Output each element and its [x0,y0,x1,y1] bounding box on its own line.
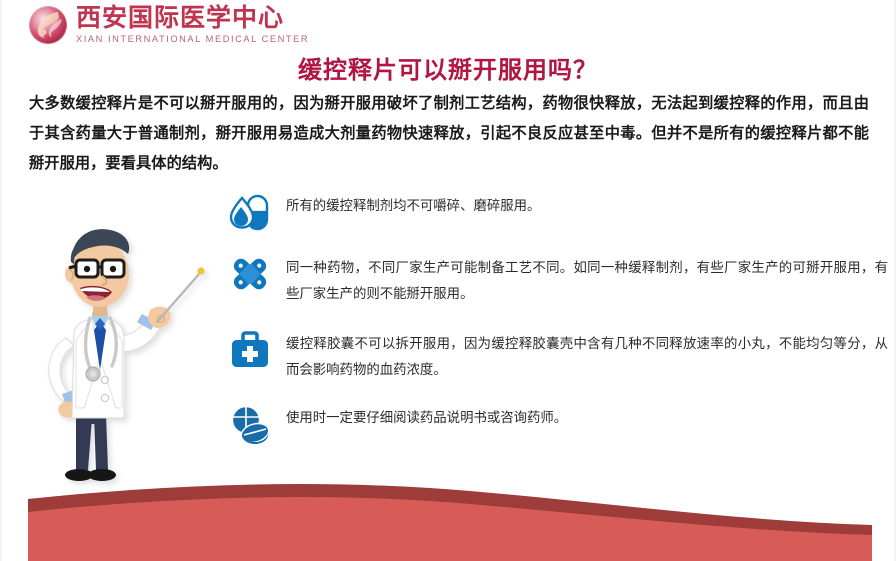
cartoon-doctor-illustration [14,218,214,493]
list-item-label: 所有的缓控释制剂均不可嚼碎、磨碎服用。 [286,190,888,220]
list-item-label: 同一种药物，不同厂家生产可能制备工艺不同。如同一种缓释制剂，有些厂家生产的可掰开… [286,252,888,308]
page-root: 西安国际医学中心 XIAN INTERNATIONAL MEDICAL CENT… [0,0,896,561]
list-item-label: 缓控释胶囊不可以拆开服用，因为缓控释胶囊壳中含有几种不同释放速率的小丸，不能均匀… [286,328,888,384]
list-item: 所有的缓控释制剂均不可嚼碎、磨碎服用。 [228,190,888,234]
site-header: 西安国际医学中心 XIAN INTERNATIONAL MEDICAL CENT… [0,0,896,46]
list-item: 使用时一定要仔细阅读药品说明书或咨询药师。 [228,402,888,446]
red-wave-footer [0,469,896,561]
crossed-bandages-icon [228,252,272,296]
brand-name-cn: 西安国际医学中心 [76,4,309,32]
brand-logo[interactable]: 西安国际医学中心 XIAN INTERNATIONAL MEDICAL CENT… [28,4,309,45]
list-item: 同一种药物，不同厂家生产可能制备工艺不同。如同一种缓释制剂，有些厂家生产的可掰开… [228,252,888,308]
scored-tablets-icon [228,402,272,446]
brand-name-en: XIAN INTERNATIONAL MEDICAL CENTER [76,33,309,45]
intro-paragraph: 大多数缓控释片是不可以掰开服用的，因为掰开服用破坏了制剂工艺结构，药物很快释放，… [29,88,869,178]
phoenix-swirl-logo-icon [28,5,68,45]
brand-text: 西安国际医学中心 XIAN INTERNATIONAL MEDICAL CENT… [76,4,309,45]
page-title: 缓控释片可以掰开服用吗？ [0,50,896,85]
list-item: 缓控释胶囊不可以拆开服用，因为缓控释胶囊壳中含有几种不同释放速率的小丸，不能均匀… [228,328,888,384]
medical-kit-icon [228,328,272,372]
list-item-label: 使用时一定要仔细阅读药品说明书或咨询药师。 [286,402,888,432]
bullet-list: 所有的缓控释制剂均不可嚼碎、磨碎服用。 [228,190,888,462]
droplet-capsule-icon [228,190,272,234]
